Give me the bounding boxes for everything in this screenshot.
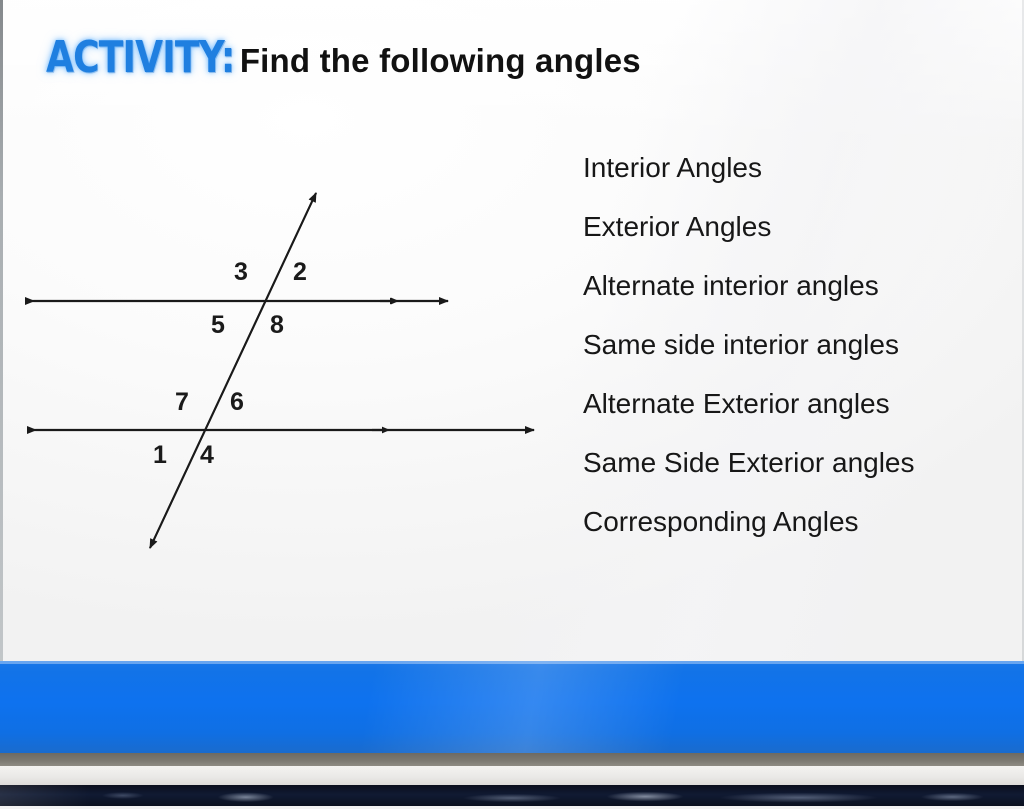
title-main-text: Find the following angles xyxy=(240,44,641,77)
transversal-down-arrow xyxy=(150,193,316,548)
diagram-svg xyxy=(0,150,560,590)
angle-label-8: 8 xyxy=(270,313,284,338)
angle-label-4: 4 xyxy=(200,443,214,468)
list-item-interior-angles: Interior Angles xyxy=(583,154,1013,182)
slide-title: ACTIVITY: Find the following angles xyxy=(46,36,641,80)
angle-label-7: 7 xyxy=(175,390,189,415)
angle-label-2: 2 xyxy=(293,260,307,285)
list-item-corresponding-angles: Corresponding Angles xyxy=(583,508,1013,536)
bottom-blue-bar xyxy=(0,661,1024,753)
board-tray-shadow xyxy=(0,753,1024,766)
bottom-dark-band xyxy=(0,785,1024,806)
angle-label-6: 6 xyxy=(230,390,244,415)
list-item-alternate-interior-angles: Alternate interior angles xyxy=(583,272,1013,300)
bottom-dark-band-texture xyxy=(0,785,1024,806)
title-activity-label: ACTIVITY: xyxy=(46,36,234,80)
angle-label-3: 3 xyxy=(234,260,248,285)
list-item-exterior-angles: Exterior Angles xyxy=(583,213,1013,241)
board-tray xyxy=(0,766,1024,785)
blue-bar-sheen xyxy=(0,661,1024,753)
slide-canvas: ACTIVITY: Find the following angles xyxy=(0,0,1024,809)
list-item-same-side-interior-angles: Same side interior angles xyxy=(583,331,1013,359)
angle-types-list: Interior Angles Exterior Angles Alternat… xyxy=(583,154,1013,567)
transversal-line xyxy=(150,193,316,548)
angle-label-5: 5 xyxy=(211,313,225,338)
angle-label-1: 1 xyxy=(153,443,167,468)
parallel-lines-diagram: 3 2 5 8 7 6 1 4 xyxy=(0,150,560,590)
list-item-same-side-exterior-angles: Same Side Exterior angles xyxy=(583,449,1013,477)
list-item-alternate-exterior-angles: Alternate Exterior angles xyxy=(583,390,1013,418)
